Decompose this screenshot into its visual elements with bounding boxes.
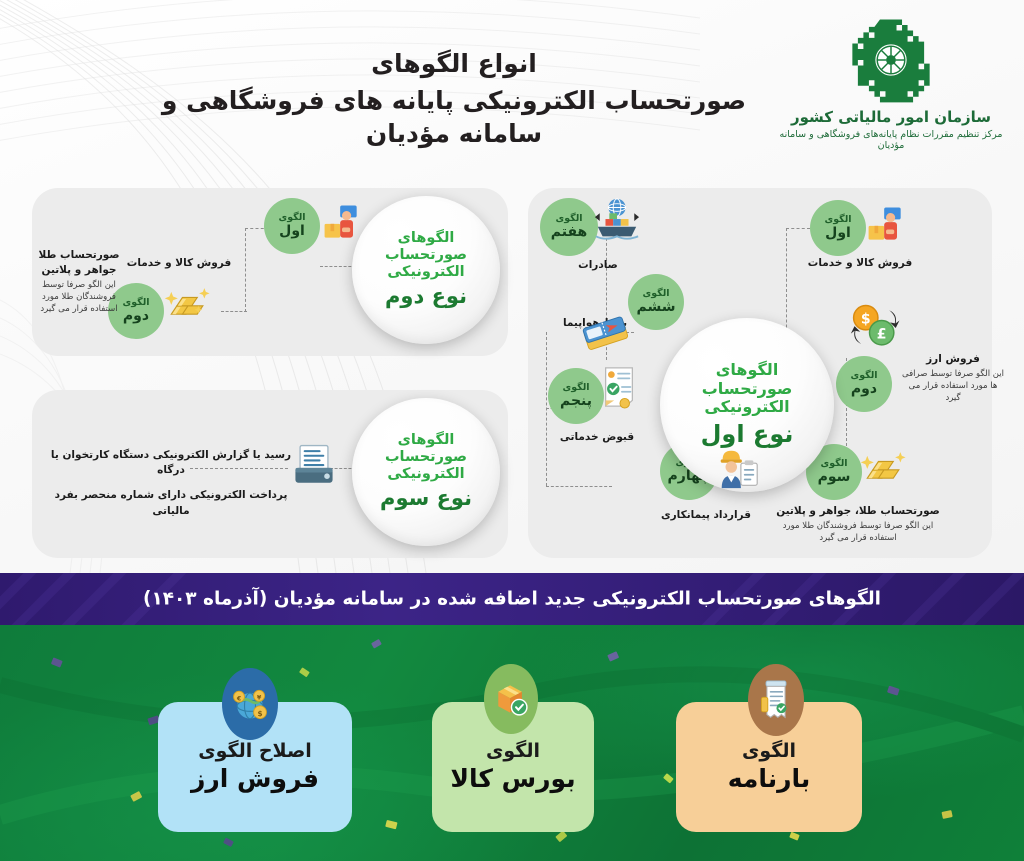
utility-bill-icon xyxy=(598,364,640,414)
desc-type2-second: صورتحساب طلا جواهر و پلاتین این الگو صرف… xyxy=(28,248,130,316)
pattern-badge-type1-seventh-top: الگوی xyxy=(556,214,583,224)
goods-services-icon xyxy=(320,200,364,248)
airplane-ticket-icon xyxy=(580,312,632,362)
new-pattern-card-bours-line1: الگوی xyxy=(486,740,540,763)
tax-organization-logo-icon xyxy=(845,14,937,106)
new-patterns-banner: الگوهای صورتحساب الکترونیکی جدید اضافه ش… xyxy=(0,573,1024,625)
pattern-badge-type1-first-bottom: اول xyxy=(825,226,851,241)
center-type3-line1: الگوهای xyxy=(398,432,455,449)
new-pattern-card-bours-line2: بورس کالا xyxy=(450,764,575,794)
desc-type3-line2: پرداخت الکترونیکی دارای شماره منحصر بفرد… xyxy=(46,488,296,518)
desc-type2-second-main: صورتحساب طلا جواهر و پلاتین xyxy=(28,248,130,278)
desc-type1-third-note: این الگو صرفا توسط فروشندگان طلا مورد اس… xyxy=(768,521,948,545)
desc-type1-third: صورتحساب طلا، جواهر و پلاتین این الگو صر… xyxy=(768,504,948,545)
center-type2-line2: صورتحساب xyxy=(385,247,467,264)
page-title: انواع الگوهای صورتحساب الکترونیکی پایانه… xyxy=(144,48,764,150)
pattern-badge-type1-fifth-top: الگوی xyxy=(563,383,590,393)
desc-type1-fourth: قرارداد پیمانکاری xyxy=(640,508,772,523)
pattern-badge-type1-seventh[interactable]: الگوی هفتم xyxy=(540,198,598,256)
center-type3-line3: الکترونیکی xyxy=(387,466,464,483)
svg-text:$: $ xyxy=(861,311,871,327)
new-pattern-card-arz-line1: اصلاح الگوی xyxy=(198,740,312,763)
waybill-document-icon xyxy=(748,664,804,736)
desc-type1-fifth: قبوض خدماتی xyxy=(538,430,656,445)
pattern-badge-type1-seventh-bottom: هفتم xyxy=(551,225,587,240)
currency-exchange-icon: $ £ xyxy=(848,300,906,360)
contractor-worker-icon xyxy=(714,444,762,496)
goods-services-icon xyxy=(864,202,908,250)
pattern-badge-type1-first[interactable]: الگوی اول xyxy=(810,200,866,256)
desc-type1-fourth-main: قرارداد پیمانکاری xyxy=(640,508,772,523)
desc-type1-second-note: این الگو صرفا توسط صرافی ها مورد استفاده… xyxy=(900,369,1006,405)
desc-type1-seventh-main: صادرات xyxy=(540,258,656,273)
connector-type2-to-center xyxy=(320,266,356,267)
svg-text:€: € xyxy=(236,694,242,702)
gold-bars-icon xyxy=(162,278,214,332)
connector-type1-to-fourth-left xyxy=(546,486,612,487)
desc-type2-second-note: این الگو صرفا توسط فروشندگان طلا مورد اس… xyxy=(28,280,130,316)
center-type1-line1: الگوهای xyxy=(716,361,779,380)
globe-currency-icon: € ¥ $ xyxy=(222,668,278,740)
connector-type1-left-lower-vertical xyxy=(546,332,547,486)
connector-type1-to-first xyxy=(786,228,810,229)
svg-text:£: £ xyxy=(877,326,887,342)
center-type1-line2: صورتحساب xyxy=(702,380,793,399)
gold-bars-icon xyxy=(858,442,910,496)
center-type3-line4: نوع سوم xyxy=(380,486,472,511)
center-type2-line3: الکترونیکی xyxy=(387,264,464,281)
pattern-badge-type1-first-top: الگوی xyxy=(825,215,852,225)
new-pattern-card-barnameh-line2: بارنامه xyxy=(728,764,811,794)
organization-name: سازمان امور مالیاتی کشور xyxy=(776,108,1006,126)
page-header: انواع الگوهای صورتحساب الکترونیکی پایانه… xyxy=(0,0,1024,175)
desc-type1-first: فروش کالا و خدمات xyxy=(790,256,930,271)
center-badge-type-three: الگوهای صورتحساب الکترونیکی نوع سوم xyxy=(352,398,500,546)
banner-text: الگوهای صورتحساب الکترونیکی جدید اضافه ش… xyxy=(0,589,1024,610)
pattern-badge-type2-first[interactable]: الگوی اول xyxy=(264,198,320,254)
pattern-badge-type1-sixth[interactable]: الگوی ششم xyxy=(628,274,684,330)
desc-type1-third-main: صورتحساب طلا، جواهر و پلاتین xyxy=(768,504,948,519)
pattern-badge-type2-first-bottom: اول xyxy=(279,224,305,239)
center-type1-line3: الکترونیکی xyxy=(704,398,789,417)
pattern-badge-type1-fifth[interactable]: الگوی پنجم xyxy=(548,368,604,424)
page-title-line2: صورتحساب الکترونیکی پایانه های فروشگاهی … xyxy=(144,85,764,150)
export-cargo-ship-icon xyxy=(592,196,642,248)
desc-type1-fifth-main: قبوض خدماتی xyxy=(538,430,656,445)
desc-type1-seventh: صادرات xyxy=(540,258,656,273)
new-pattern-card-arz-line2: فروش ارز xyxy=(191,764,319,794)
pattern-badge-type1-second-top: الگوی xyxy=(851,371,878,381)
desc-type1-first-main: فروش کالا و خدمات xyxy=(790,256,930,271)
page-title-line1: انواع الگوهای xyxy=(144,48,764,79)
pattern-badge-type1-sixth-top: الگوی xyxy=(643,289,670,299)
connector-type2-to-second xyxy=(221,311,247,312)
pattern-badge-type2-first-top: الگوی xyxy=(279,213,306,223)
package-check-icon xyxy=(484,664,538,734)
pattern-badge-type1-third-top: الگوی xyxy=(821,459,848,469)
desc-type3-line1: رسید یا گزارش الکترونیکی دستگاه کارتخوان… xyxy=(46,448,296,478)
desc-type1-second: فروش ارز این الگو صرفا توسط صرافی ها مور… xyxy=(900,352,1006,405)
organization-subtitle: مرکز تنظیم مقررات نظام پایانه‌های فروشگا… xyxy=(776,129,1006,151)
pattern-badge-type1-third-bottom: سوم xyxy=(818,470,851,485)
center-type2-line4: نوع دوم xyxy=(385,284,467,309)
pattern-badge-type1-second-bottom: دوم xyxy=(851,382,877,397)
svg-text:$: $ xyxy=(258,709,263,718)
desc-type3: رسید یا گزارش الکترونیکی دستگاه کارتخوان… xyxy=(46,448,296,519)
organization-logo: سازمان امور مالیاتی کشور مرکز تنظیم مقرر… xyxy=(776,14,1006,151)
top-section: انواع الگوهای صورتحساب الکترونیکی پایانه… xyxy=(0,0,1024,573)
pattern-badge-type1-second[interactable]: الگوی دوم xyxy=(836,356,892,412)
pos-receipt-printer-icon xyxy=(288,440,340,496)
desc-type1-second-main: فروش ارز xyxy=(900,352,1006,367)
center-type3-line2: صورتحساب xyxy=(385,449,467,466)
center-badge-type-two: الگوهای صورتحساب الکترونیکی نوع دوم xyxy=(352,196,500,344)
pattern-badge-type1-fifth-bottom: پنجم xyxy=(560,394,592,409)
new-pattern-card-barnameh-line1: الگوی xyxy=(742,740,796,763)
pattern-badge-type1-sixth-bottom: ششم xyxy=(637,300,676,315)
center-type2-line1: الگوهای xyxy=(398,230,455,247)
svg-text:¥: ¥ xyxy=(257,693,262,701)
